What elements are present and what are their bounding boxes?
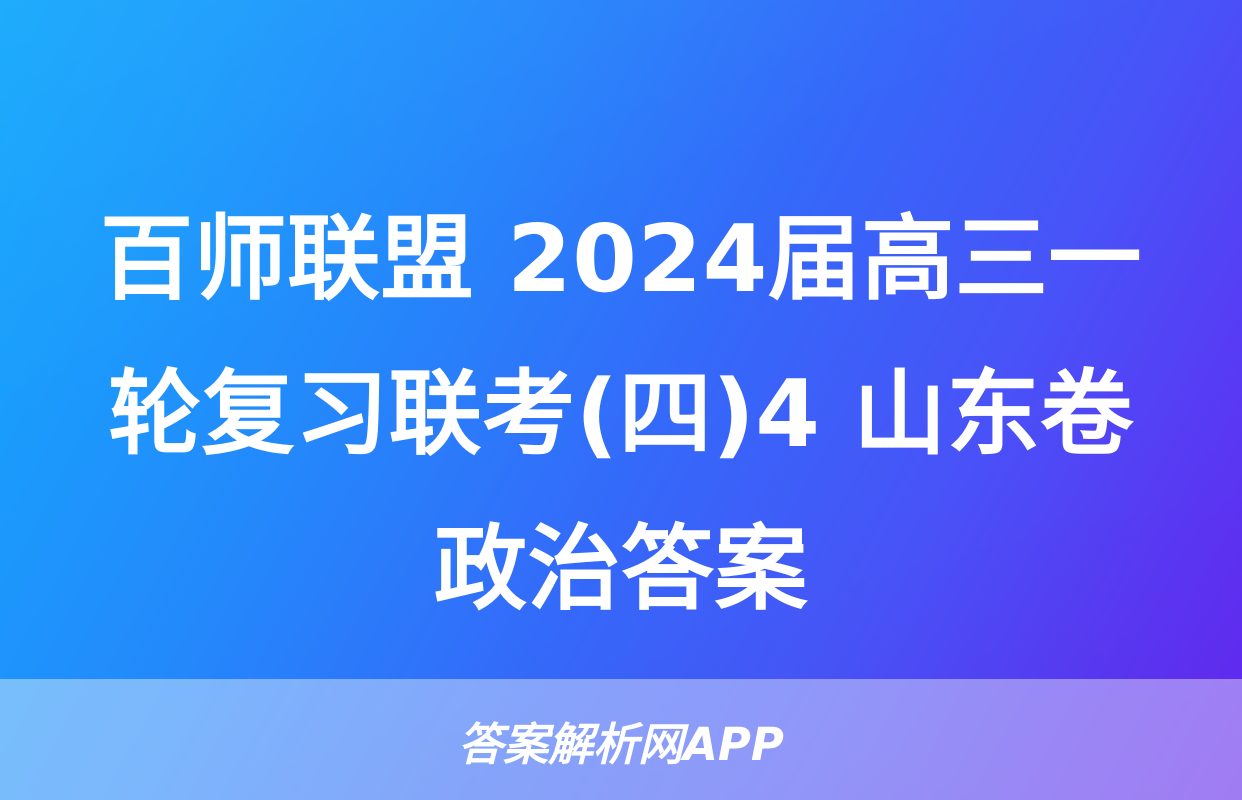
title-line-2: 轮复习联考(四)4 山东卷 (40, 337, 1202, 492)
page-title: 百师联盟 2024届高三一 轮复习联考(四)4 山东卷 政治答案 (0, 182, 1242, 647)
title-line-3: 政治答案 (40, 492, 1202, 647)
title-line-1: 百师联盟 2024届高三一 (40, 182, 1202, 337)
watermark-label: 答案解析网APP (458, 708, 784, 773)
answer-card: 百师联盟 2024届高三一 轮复习联考(四)4 山东卷 政治答案 答案解析网AP… (0, 0, 1242, 800)
footer-band: 答案解析网APP (0, 679, 1242, 800)
